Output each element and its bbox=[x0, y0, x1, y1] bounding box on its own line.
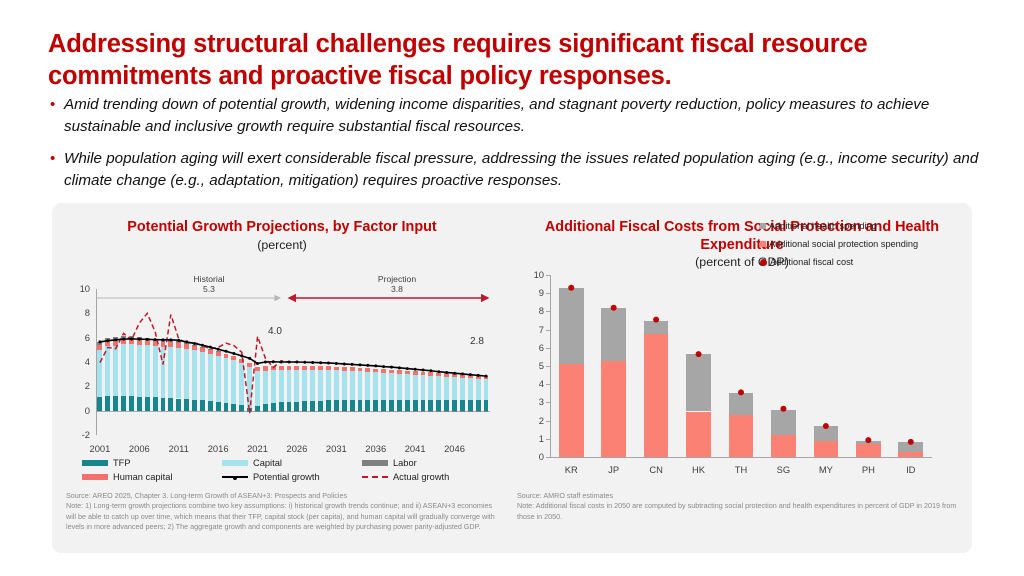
y-tick-mark bbox=[546, 348, 551, 349]
bar-segment-capital bbox=[239, 363, 244, 405]
y-tick-mark bbox=[546, 275, 551, 276]
x-tick-label: 2021 bbox=[238, 443, 278, 454]
y-tick-label: 2 bbox=[518, 415, 544, 426]
table-row bbox=[271, 289, 276, 435]
bar-segment-tfp bbox=[263, 404, 268, 411]
bar-segment-human-capital bbox=[105, 341, 110, 346]
bar-segment-health bbox=[644, 321, 669, 335]
bar-segment-human-capital bbox=[421, 372, 426, 375]
bar-segment-tfp bbox=[129, 396, 134, 410]
table-row bbox=[200, 289, 205, 435]
chart-subtitle-left: (percent) bbox=[52, 237, 512, 252]
legend-item[interactable]: Labor bbox=[362, 458, 502, 468]
y-tick-mark bbox=[546, 439, 551, 440]
list-item: • Amid trending down of potential growth… bbox=[46, 94, 996, 137]
bar-segment-tfp bbox=[365, 400, 370, 411]
bar-segment-tfp bbox=[231, 404, 236, 411]
y-tick-label: 10 bbox=[518, 269, 544, 280]
x-tick-label: 2001 bbox=[80, 443, 120, 454]
bar-segment-tfp bbox=[397, 400, 402, 411]
x-tick-label: JP bbox=[594, 464, 634, 475]
y-tick-label: 8 bbox=[60, 307, 90, 318]
x-tick-label: 2011 bbox=[159, 443, 199, 454]
legend-swatch-icon bbox=[222, 460, 248, 466]
y-tick-label: 1 bbox=[518, 433, 544, 444]
bar-segment-capital bbox=[342, 371, 347, 400]
callout-4-0: 4.0 bbox=[268, 326, 282, 337]
table-row bbox=[153, 289, 158, 435]
bar-segment-capital bbox=[137, 345, 142, 397]
bar-segment-health bbox=[729, 393, 754, 415]
table-row bbox=[413, 289, 418, 435]
bar-segment-human-capital bbox=[145, 340, 150, 345]
table-row bbox=[484, 289, 489, 435]
bar-segment-capital bbox=[452, 377, 457, 400]
x-tick-label: KR bbox=[551, 464, 591, 475]
bar-segment-capital bbox=[105, 346, 110, 396]
bar-segment-labor bbox=[255, 411, 260, 412]
bar-segment-labor bbox=[484, 411, 489, 412]
bar-segment-human-capital bbox=[310, 366, 315, 370]
bar-segment-tfp bbox=[208, 401, 213, 410]
bar-segment-human-capital bbox=[318, 366, 323, 370]
bar-segment-human-capital bbox=[365, 368, 370, 372]
bar-segment-capital bbox=[413, 375, 418, 400]
y-tick-mark bbox=[546, 311, 551, 312]
table-row bbox=[342, 289, 347, 435]
bar-segment-human-capital bbox=[184, 344, 189, 349]
bullet-list: • Amid trending down of potential growth… bbox=[46, 94, 996, 202]
table-row bbox=[216, 289, 221, 435]
y-tick-label: 10 bbox=[60, 283, 90, 294]
source-left: Source: AREO 2025, Chapter 3. Long-term … bbox=[66, 491, 498, 501]
bar-segment-tfp bbox=[192, 400, 197, 411]
bar-segment-labor bbox=[452, 411, 457, 412]
bar-segment-labor bbox=[405, 411, 410, 412]
bar-segment-labor bbox=[460, 411, 465, 412]
bar-segment-human-capital bbox=[413, 371, 418, 375]
legend-swatch-icon bbox=[760, 223, 766, 229]
legend-item[interactable]: Human capital bbox=[82, 472, 222, 482]
bar-segment-capital bbox=[373, 372, 378, 399]
bar-segment-human-capital bbox=[460, 374, 465, 377]
bar-segment-labor bbox=[326, 411, 331, 412]
y-tick-mark bbox=[546, 421, 551, 422]
bar-segment-human-capital bbox=[255, 367, 260, 371]
bar-segment-social-protection bbox=[814, 441, 839, 457]
table-row bbox=[405, 289, 410, 435]
bar-segment-human-capital bbox=[231, 356, 236, 361]
bar-segment-tfp bbox=[318, 401, 323, 411]
bar-segment-labor bbox=[184, 343, 189, 344]
bar-segment-social-protection bbox=[771, 435, 796, 457]
bar-segment-labor bbox=[137, 337, 142, 339]
bar-segment-tfp bbox=[381, 400, 386, 411]
x-tick-label: PH bbox=[848, 464, 888, 475]
table-row bbox=[287, 289, 292, 435]
legend-label: Additional fiscal cost bbox=[770, 257, 853, 267]
bar-segment-tfp bbox=[373, 400, 378, 411]
bar-segment-capital bbox=[428, 376, 433, 400]
x-tick-label: HK bbox=[679, 464, 719, 475]
bar-segment-labor bbox=[436, 411, 441, 412]
y-tick-label: 7 bbox=[518, 324, 544, 335]
table-row bbox=[224, 289, 229, 435]
bar-segment-capital bbox=[460, 378, 465, 400]
y-tick-label: 5 bbox=[518, 360, 544, 371]
bar-segment-tfp bbox=[460, 400, 465, 411]
bar-segment-capital bbox=[405, 374, 410, 400]
bar-segment-capital bbox=[381, 373, 386, 400]
x-tick-label: 2041 bbox=[395, 443, 435, 454]
bar-segment-human-capital bbox=[389, 370, 394, 374]
table-row bbox=[452, 289, 457, 435]
bar-segment-labor bbox=[121, 336, 126, 339]
bar-segment-tfp bbox=[484, 400, 489, 411]
bar-segment-capital bbox=[113, 346, 118, 396]
legend-label: Additional health spending bbox=[769, 221, 877, 231]
bar-segment-human-capital bbox=[161, 342, 166, 347]
bar-segment-tfp bbox=[302, 401, 307, 410]
table-row bbox=[105, 289, 110, 435]
bar-segment-labor bbox=[105, 338, 110, 341]
bar-segment-tfp bbox=[468, 400, 473, 411]
table-row bbox=[729, 275, 754, 457]
bar-segment-human-capital bbox=[358, 368, 363, 372]
x-tick-label: SG bbox=[763, 464, 803, 475]
bar-segment-capital bbox=[247, 367, 252, 408]
bar-segment-human-capital bbox=[444, 373, 449, 376]
legend-swatch-icon bbox=[82, 460, 108, 466]
bar-segment-labor bbox=[358, 411, 363, 412]
legend-swatch-icon bbox=[82, 474, 108, 480]
bar-segment-capital bbox=[129, 344, 134, 396]
bar-segment-tfp bbox=[184, 399, 189, 411]
table-row bbox=[294, 289, 299, 435]
bar-segment-human-capital bbox=[452, 374, 457, 377]
bar-segment-tfp bbox=[334, 400, 339, 410]
table-row bbox=[428, 289, 433, 435]
bar-segment-human-capital bbox=[381, 369, 386, 373]
bar-segment-tfp bbox=[216, 402, 221, 411]
bar-segment-labor bbox=[231, 411, 236, 412]
bar-segment-tfp bbox=[436, 400, 441, 411]
legend-item[interactable]: Potential growth bbox=[222, 472, 362, 482]
bar-segment-labor bbox=[216, 351, 221, 352]
y-tick-mark bbox=[546, 366, 551, 367]
bar-segment-human-capital bbox=[334, 367, 339, 371]
table-row bbox=[644, 275, 669, 457]
table-row bbox=[255, 289, 260, 435]
bar-segment-social-protection bbox=[686, 412, 711, 458]
legend-label: Additional social protection spending bbox=[769, 239, 918, 249]
bar-segment-labor bbox=[239, 411, 244, 412]
bar-segment-labor bbox=[271, 411, 276, 412]
bar-segment-capital bbox=[436, 376, 441, 400]
bar-segment-capital bbox=[192, 350, 197, 399]
table-row bbox=[389, 289, 394, 435]
bar-segment-capital bbox=[153, 346, 158, 397]
table-row bbox=[898, 275, 923, 457]
table-row bbox=[358, 289, 363, 435]
bar-segment-tfp bbox=[145, 397, 150, 411]
y-tick-label: 4 bbox=[518, 378, 544, 389]
bar-segment-labor bbox=[153, 339, 158, 341]
bar-segment-human-capital bbox=[397, 370, 402, 374]
table-row bbox=[239, 289, 244, 435]
bar-segment-human-capital bbox=[224, 354, 229, 359]
table-row bbox=[814, 275, 839, 457]
bar-segment-social-protection bbox=[644, 334, 669, 457]
legend-label: Actual growth bbox=[393, 472, 449, 482]
table-row bbox=[310, 289, 315, 435]
bar-segment-tfp bbox=[326, 400, 331, 410]
bar-segment-capital bbox=[397, 374, 402, 400]
bar-segment-tfp bbox=[358, 400, 363, 411]
x-tick-label: 2016 bbox=[198, 443, 238, 454]
y-tick-label: 2 bbox=[60, 380, 90, 391]
legend-item[interactable]: Actual growth bbox=[362, 472, 502, 482]
bar-segment-human-capital bbox=[279, 366, 284, 370]
legend-line-icon bbox=[222, 476, 248, 478]
bar-segment-capital bbox=[121, 344, 126, 396]
bar-segment-labor bbox=[287, 411, 292, 412]
y-tick-label: 3 bbox=[518, 396, 544, 407]
bar-segment-labor bbox=[263, 411, 268, 412]
bar-segment-tfp bbox=[137, 397, 142, 411]
bar-segment-tfp bbox=[421, 400, 426, 411]
bar-segment-labor bbox=[350, 411, 355, 412]
table-row bbox=[121, 289, 126, 435]
legend-label: Labor bbox=[393, 458, 417, 468]
bar-segment-capital bbox=[334, 370, 339, 400]
table-row bbox=[601, 275, 626, 457]
table-row bbox=[231, 289, 236, 435]
bar-segment-capital bbox=[326, 370, 331, 400]
legend-label: Human capital bbox=[113, 472, 172, 482]
bar-segment-human-capital bbox=[247, 363, 252, 367]
table-row bbox=[184, 289, 189, 435]
bar-segment-health bbox=[898, 442, 923, 452]
table-row bbox=[326, 289, 331, 435]
table-row bbox=[145, 289, 150, 435]
legend-dash-icon bbox=[362, 476, 388, 478]
bar-segment-tfp bbox=[476, 400, 481, 411]
bar-segment-health bbox=[771, 410, 796, 435]
bar-segment-human-capital bbox=[216, 351, 221, 356]
bar-segment-labor bbox=[444, 411, 449, 412]
bar-segment-labor bbox=[224, 411, 229, 412]
bar-segment-human-capital bbox=[468, 375, 473, 378]
bar-segment-social-protection bbox=[729, 415, 754, 457]
legend-item[interactable]: Additional fiscal cost bbox=[760, 257, 918, 267]
bar-segment-labor bbox=[145, 338, 150, 340]
bar-segment-labor bbox=[476, 411, 481, 412]
bar-segment-tfp bbox=[161, 398, 166, 411]
y-tick-mark bbox=[546, 457, 551, 458]
bar-segment-human-capital bbox=[405, 371, 410, 375]
legend-swatch-icon bbox=[362, 460, 388, 466]
table-row bbox=[444, 289, 449, 435]
bar-segment-health bbox=[686, 354, 711, 411]
table-row bbox=[686, 275, 711, 457]
y-tick-label: 0 bbox=[518, 451, 544, 462]
x-tick-label: 2031 bbox=[316, 443, 356, 454]
bar-segment-tfp bbox=[153, 397, 158, 410]
table-row bbox=[97, 289, 102, 435]
bar-segment-tfp bbox=[310, 401, 315, 411]
x-tick-label: MY bbox=[806, 464, 846, 475]
bar-segment-health bbox=[559, 288, 584, 364]
bar-segment-social-protection bbox=[856, 444, 881, 457]
legend-item[interactable]: Capital bbox=[222, 458, 362, 468]
bar-segment-labor bbox=[428, 411, 433, 412]
bar-segment-capital bbox=[216, 356, 221, 402]
bar-segment-tfp bbox=[97, 397, 102, 411]
bar-segment-labor bbox=[468, 411, 473, 412]
x-tick-label: 2046 bbox=[435, 443, 475, 454]
source-note-left: Source: AREO 2025, Chapter 3. Long-term … bbox=[66, 491, 498, 533]
bar-segment-tfp bbox=[121, 396, 126, 411]
x-tick-label: ID bbox=[891, 464, 931, 475]
bar-segment-tfp bbox=[294, 402, 299, 411]
legend-right: Additional health spendingAdditional soc… bbox=[760, 221, 918, 275]
table-row bbox=[263, 289, 268, 435]
y-tick-label: 8 bbox=[518, 305, 544, 316]
table-row bbox=[559, 275, 584, 457]
bar-segment-capital bbox=[421, 375, 426, 400]
bar-segment-human-capital bbox=[326, 366, 331, 370]
bar-segment-capital bbox=[358, 371, 363, 399]
legend-label: TFP bbox=[113, 458, 131, 468]
legend-item[interactable]: Additional health spending bbox=[760, 221, 918, 231]
bar-segment-labor bbox=[176, 341, 181, 342]
bar-segment-labor bbox=[161, 340, 166, 342]
bar-segment-labor bbox=[294, 411, 299, 412]
bar-segment-tfp bbox=[271, 403, 276, 411]
table-row bbox=[302, 289, 307, 435]
table-row bbox=[334, 289, 339, 435]
bar-segment-human-capital bbox=[208, 349, 213, 354]
bar-segment-labor bbox=[342, 411, 347, 412]
note-right: Note: Additional fiscal costs in 2050 ar… bbox=[517, 501, 967, 522]
bar-segment-labor bbox=[381, 411, 386, 412]
y-tick-mark bbox=[546, 330, 551, 331]
legend-item[interactable]: TFP bbox=[82, 458, 222, 468]
bar-segment-capital bbox=[176, 348, 181, 399]
bar-segment-capital bbox=[350, 371, 355, 400]
y-tick-label: 4 bbox=[60, 356, 90, 367]
bar-segment-capital bbox=[365, 372, 370, 400]
table-row bbox=[129, 289, 134, 435]
bar-segment-tfp bbox=[342, 400, 347, 410]
table-row bbox=[373, 289, 378, 435]
bar-segment-capital bbox=[476, 379, 481, 400]
table-row bbox=[460, 289, 465, 435]
source-note-right: Source: AMRO staff estimates Note: Addit… bbox=[517, 491, 967, 522]
bar-segment-labor bbox=[247, 411, 252, 412]
bar-segment-human-capital bbox=[263, 366, 268, 370]
legend-item[interactable]: Additional social protection spending bbox=[760, 239, 918, 249]
bar-segment-human-capital bbox=[121, 339, 126, 344]
bullet-text: Amid trending down of potential growth, … bbox=[64, 94, 996, 137]
bar-segment-social-protection bbox=[898, 452, 923, 457]
bullet-marker-icon: • bbox=[46, 148, 64, 191]
bar-segment-labor bbox=[208, 349, 213, 350]
bar-segment-capital bbox=[318, 370, 323, 401]
y-tick-label: 9 bbox=[518, 287, 544, 298]
bar-segment-capital bbox=[184, 349, 189, 399]
x-tick-label: TH bbox=[721, 464, 761, 475]
legend-label: Potential growth bbox=[253, 472, 320, 482]
bar-segment-human-capital bbox=[239, 359, 244, 364]
bar-segment-tfp bbox=[113, 396, 118, 410]
bar-segment-tfp bbox=[452, 400, 457, 411]
bar-segment-capital bbox=[294, 370, 299, 402]
bar-segment-human-capital bbox=[129, 339, 134, 344]
bar-segment-human-capital bbox=[476, 375, 481, 378]
table-row bbox=[436, 289, 441, 435]
slide-root: Addressing structural challenges require… bbox=[0, 0, 1024, 576]
bar-segment-labor bbox=[310, 411, 315, 412]
y-tick-label: 0 bbox=[60, 405, 90, 416]
bar-segment-capital bbox=[271, 370, 276, 403]
charts-panel: Potential Growth Projections, by Factor … bbox=[52, 203, 972, 553]
bar-segment-human-capital bbox=[137, 339, 142, 344]
table-row bbox=[137, 289, 142, 435]
bar-segment-human-capital bbox=[287, 366, 292, 370]
bar-segment-capital bbox=[444, 377, 449, 400]
table-row bbox=[771, 275, 796, 457]
bar-segment-tfp bbox=[444, 400, 449, 411]
bar-segment-human-capital bbox=[342, 367, 347, 371]
bar-segment-human-capital bbox=[97, 345, 102, 350]
bar-segment-tfp bbox=[428, 400, 433, 411]
table-row bbox=[468, 289, 473, 435]
bar-segment-tfp bbox=[413, 400, 418, 411]
y-tick-mark bbox=[546, 384, 551, 385]
bar-segment-human-capital bbox=[200, 347, 205, 352]
bar-segment-social-protection bbox=[559, 364, 584, 457]
bar-segment-capital bbox=[200, 352, 205, 400]
plot-area-right bbox=[550, 275, 932, 457]
table-row bbox=[279, 289, 284, 435]
legend-swatch-icon bbox=[760, 241, 766, 247]
bar-segment-capital bbox=[302, 370, 307, 401]
bar-segment-capital bbox=[279, 370, 284, 402]
bar-segment-labor bbox=[397, 411, 402, 412]
bar-segment-labor bbox=[413, 411, 418, 412]
bar-segment-human-capital bbox=[294, 366, 299, 370]
bar-segment-tfp bbox=[200, 400, 205, 410]
bar-segment-human-capital bbox=[176, 343, 181, 348]
legend-dot-icon bbox=[760, 259, 767, 266]
bar-segment-tfp bbox=[405, 400, 410, 411]
bar-segment-labor bbox=[318, 411, 323, 412]
bar-segment-tfp bbox=[279, 402, 284, 410]
bar-segment-capital bbox=[161, 347, 166, 398]
bar-segment-tfp bbox=[224, 403, 229, 411]
bar-segment-labor bbox=[421, 411, 426, 412]
table-row bbox=[176, 289, 181, 435]
bar-segment-capital bbox=[263, 371, 268, 404]
x-tick-label: CN bbox=[636, 464, 676, 475]
bar-segment-tfp bbox=[176, 399, 181, 411]
y-tick-label: 6 bbox=[60, 332, 90, 343]
bar-segment-capital bbox=[310, 370, 315, 401]
table-row bbox=[421, 289, 426, 435]
bar-segment-social-protection bbox=[601, 361, 626, 457]
